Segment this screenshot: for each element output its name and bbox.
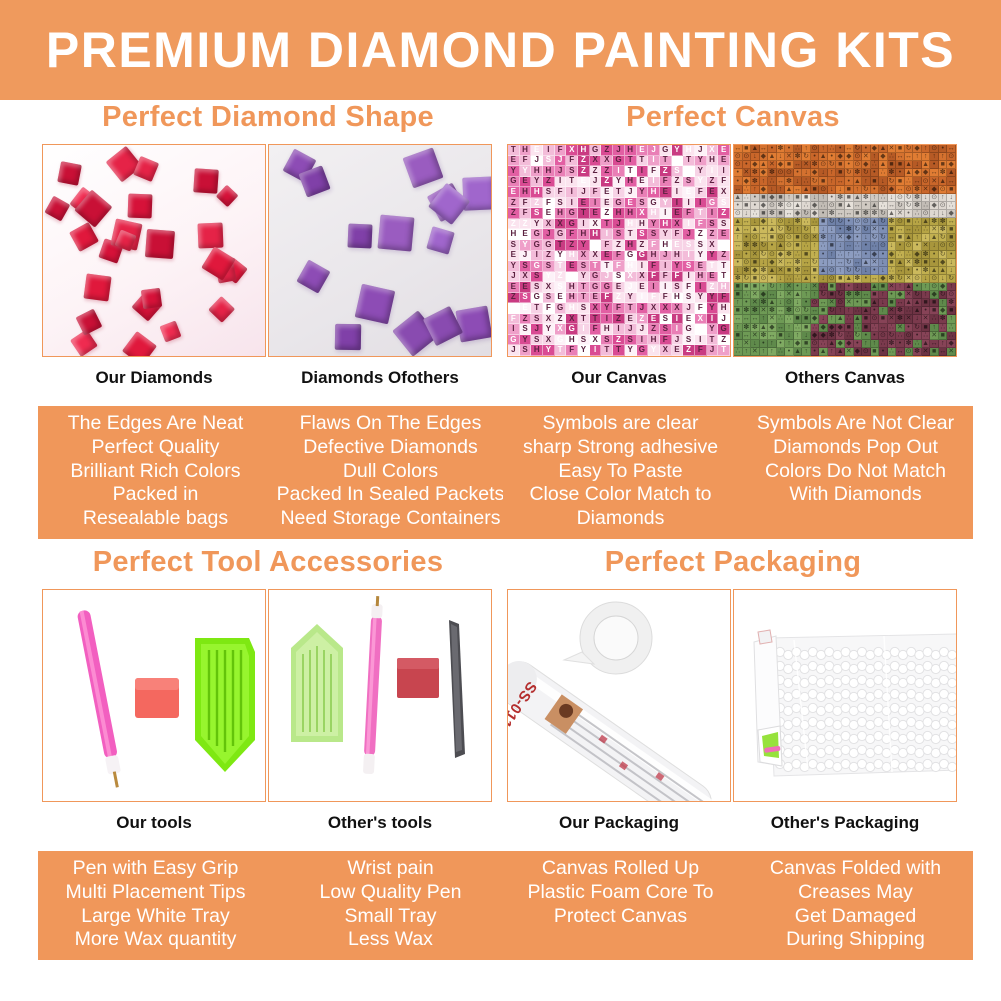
caption-our-canvas: Our Canvas	[507, 368, 731, 388]
bullet-item: Wrist pain	[275, 857, 506, 881]
section-title-diamond-shape: Perfect Diamond Shape	[28, 103, 508, 132]
image-panel-others-packaging	[733, 589, 957, 802]
purple-diamonds-photo	[269, 145, 491, 356]
bullet-column-ours: Pen with Easy Grip Multi Placement Tips …	[38, 857, 273, 952]
caption-others-diamonds: Diamonds Ofothers	[268, 368, 492, 388]
section-title-tools: Perfect Tool Accessories	[28, 548, 508, 577]
bullet-item: Less Wax	[275, 928, 506, 952]
bullet-item: Get Damaged	[740, 905, 971, 929]
section-perfect-packaging: Perfect Packaging SS-011 Our Packaging O…	[493, 548, 973, 960]
image-pair-canvas: THEIFXHGZJHEJGYHJXEEFJSJFZXXGTTITGTYHEYY…	[493, 144, 973, 362]
image-pair-diamond-shape	[28, 144, 508, 362]
bullets-canvas: Symbols are clear sharp Strong adhesive …	[503, 406, 973, 539]
bullet-item: The Edges Are Neat	[40, 412, 271, 436]
row-bottom: Perfect Tool Accessories Our tools Other…	[0, 548, 1001, 978]
image-panel-others-tools	[268, 589, 492, 802]
caption-row-packaging: Our Packaging Other's Packaging	[493, 813, 973, 843]
pink-symbol-canvas-photo: THEIFXHGZJHEJGYHJXEEFJSJFZXXGTTITGTYHEYY…	[508, 145, 730, 356]
bullet-item: Packed In Sealed Packets	[275, 483, 506, 507]
bullet-item: Need Storage Containers	[275, 507, 506, 531]
bullets-packaging: Canvas Rolled Up Plastic Foam Core To Pr…	[503, 851, 973, 960]
image-panel-our-tools	[42, 589, 266, 802]
bullet-column-others: Symbols Are Not Clear Diamonds Pop Out C…	[738, 412, 973, 531]
bullet-item: Diamonds	[505, 507, 736, 531]
canvas-tube-photo: SS-011	[508, 590, 730, 801]
bullet-item: With Diamonds	[740, 483, 971, 507]
bullet-item: Packed in	[40, 483, 271, 507]
bullet-column-others: Wrist pain Low Quality Pen Small Tray Le…	[273, 857, 508, 952]
bullet-item: Diamonds Pop Out	[740, 436, 971, 460]
bullet-item: Symbols are clear	[505, 412, 736, 436]
bullet-column-others: Flaws On The Edges Defective Diamonds Du…	[273, 412, 508, 531]
section-perfect-canvas: Perfect Canvas THEIFXHGZJHEJGYHJXEEFJSJF…	[493, 103, 973, 539]
section-title-canvas: Perfect Canvas	[493, 103, 973, 132]
page-title: PREMIUM DIAMOND PAINTING KITS	[46, 25, 955, 75]
section-title-packaging: Perfect Packaging	[493, 548, 973, 577]
caption-row-canvas: Our Canvas Others Canvas	[493, 368, 973, 398]
image-panel-our-canvas: THEIFXHGZJHEJGYHJXEEFJSJFZXXGTTITGTYHEYY…	[507, 144, 731, 357]
bullet-item: Symbols Are Not Clear	[740, 412, 971, 436]
bullet-item: Perfect Quality	[40, 436, 271, 460]
bullet-item: Close Color Match to	[505, 483, 736, 507]
caption-row-tools: Our tools Other's tools	[28, 813, 508, 843]
bullet-item: Pen with Easy Grip	[40, 857, 271, 881]
bullet-item: Brilliant Rich Colors	[40, 460, 271, 484]
section-perfect-diamond-shape: Perfect Diamond Shape Our Diamonds Diamo…	[28, 103, 508, 539]
image-panel-our-packaging: SS-011	[507, 589, 731, 802]
image-panel-others-canvas: ↔■▲↔•✽•∴↑⊙↑∴•↔↻•◆▲✕■↻◆↑⊙•↔⊙⊙↓◆▲↓✕✽↻•▲•◆◆…	[733, 144, 957, 357]
bullet-item: Multi Placement Tips	[40, 881, 271, 905]
our-tools-photo	[43, 590, 265, 801]
bullet-item: Protect Canvas	[505, 905, 736, 929]
caption-others-tools: Other's tools	[268, 813, 492, 833]
image-pair-tools	[28, 589, 508, 807]
image-panel-our-diamonds	[42, 144, 266, 357]
bullet-item: Low Quality Pen	[275, 881, 506, 905]
bullet-column-others: Canvas Folded with Creases May Get Damag…	[738, 857, 973, 952]
red-diamonds-photo	[43, 145, 265, 356]
bullet-item: Small Tray	[275, 905, 506, 929]
bullet-item: Creases May	[740, 881, 971, 905]
bullet-item: Resealable bags	[40, 507, 271, 531]
bullets-diamond-shape: The Edges Are Neat Perfect Quality Brill…	[38, 406, 508, 539]
bullet-item: Defective Diamonds	[275, 436, 506, 460]
bullet-column-ours: Symbols are clear sharp Strong adhesive …	[503, 412, 738, 531]
bullet-item: Dull Colors	[275, 460, 506, 484]
image-pair-packaging: SS-011	[493, 589, 973, 807]
page-header-banner: PREMIUM DIAMOND PAINTING KITS	[0, 0, 1001, 100]
bullets-tools: Pen with Easy Grip Multi Placement Tips …	[38, 851, 508, 960]
bullet-item: During Shipping	[740, 928, 971, 952]
bullet-item: Canvas Folded with	[740, 857, 971, 881]
bullet-column-ours: Canvas Rolled Up Plastic Foam Core To Pr…	[503, 857, 738, 952]
bullet-item: Colors Do Not Match	[740, 460, 971, 484]
row-top: Perfect Diamond Shape Our Diamonds Diamo…	[0, 103, 1001, 533]
bullet-item: More Wax quantity	[40, 928, 271, 952]
bullet-item: sharp Strong adhesive	[505, 436, 736, 460]
infographic-page: PREMIUM DIAMOND PAINTING KITS Perfect Di…	[0, 0, 1001, 1001]
caption-others-packaging: Other's Packaging	[733, 813, 957, 833]
section-perfect-tool-accessories: Perfect Tool Accessories Our tools Other…	[28, 548, 508, 960]
caption-our-diamonds: Our Diamonds	[42, 368, 266, 388]
others-tools-photo	[269, 590, 491, 801]
muddy-symbol-canvas-photo: ↔■▲↔•✽•∴↑⊙↑∴•↔↻•◆▲✕■↻◆↑⊙•↔⊙⊙↓◆▲↓✕✽↻•▲•◆◆…	[734, 145, 956, 356]
bullet-item: Easy To Paste	[505, 460, 736, 484]
caption-row-diamond-shape: Our Diamonds Diamonds Ofothers	[28, 368, 508, 398]
bubble-mailer-photo	[734, 590, 956, 801]
image-panel-others-diamonds	[268, 144, 492, 357]
caption-our-tools: Our tools	[42, 813, 266, 833]
caption-our-packaging: Our Packaging	[507, 813, 731, 833]
bullet-item: Large White Tray	[40, 905, 271, 929]
caption-others-canvas: Others Canvas	[733, 368, 957, 388]
bullet-item: Plastic Foam Core To	[505, 881, 736, 905]
bullet-item: Canvas Rolled Up	[505, 857, 736, 881]
bullet-item: Flaws On The Edges	[275, 412, 506, 436]
bullet-column-ours: The Edges Are Neat Perfect Quality Brill…	[38, 412, 273, 531]
